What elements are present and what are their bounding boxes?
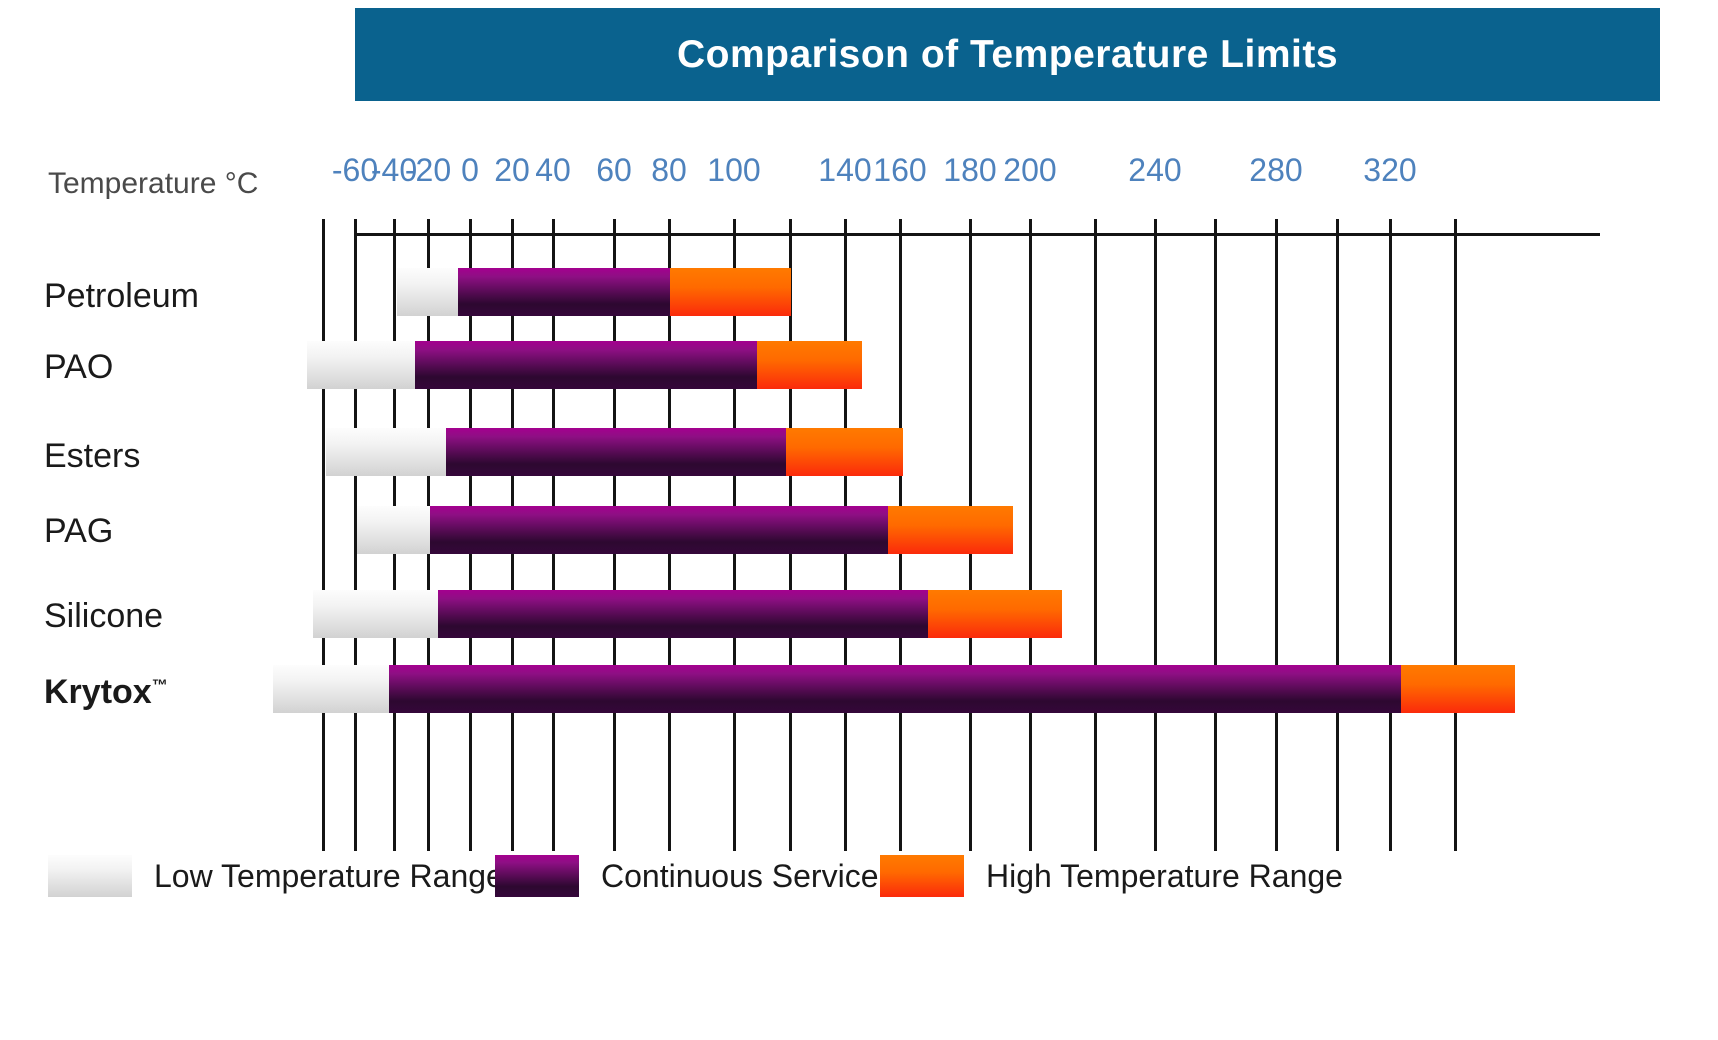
axis-tick-label: 160 xyxy=(873,152,926,189)
row-label-petroleum: Petroleum xyxy=(44,277,199,316)
grid-line xyxy=(1389,219,1392,851)
legend-item-low: Low Temperature Range xyxy=(48,855,504,897)
axis-tick-label: -60 xyxy=(332,152,378,189)
bar-segment-low xyxy=(313,590,438,638)
bar-segment-cont xyxy=(446,428,786,476)
bar-segment-cont xyxy=(458,268,670,316)
legend-item-continuous: Continuous Service xyxy=(495,855,878,897)
axis-tick-label: 80 xyxy=(651,152,687,189)
axis-tick-label: 60 xyxy=(596,152,632,189)
grid-line xyxy=(393,219,396,851)
grid-line xyxy=(668,219,671,851)
legend-swatch-high xyxy=(880,855,964,897)
grid-line xyxy=(1275,219,1278,851)
bar-segment-cont xyxy=(430,506,888,554)
axis-baseline xyxy=(355,233,1600,236)
grid-line xyxy=(969,219,972,851)
row-label-silicone: Silicone xyxy=(44,597,163,636)
bar-segment-low xyxy=(273,665,389,713)
axis-tick-label: 240 xyxy=(1128,152,1181,189)
row-label-pag: PAG xyxy=(44,512,113,551)
grid-line xyxy=(427,219,430,851)
axis-tick-label: -20 xyxy=(405,152,451,189)
row-label-esters: Esters xyxy=(44,437,140,476)
grid-line xyxy=(1029,219,1032,851)
grid-line xyxy=(469,219,472,851)
grid-line xyxy=(552,219,555,851)
grid-line xyxy=(733,219,736,851)
row-label-pao: PAO xyxy=(44,348,113,387)
grid-line xyxy=(1214,219,1217,851)
grid-line xyxy=(322,219,325,851)
axis-tick-label: 100 xyxy=(707,152,760,189)
grid-line xyxy=(789,219,792,851)
grid-line xyxy=(511,219,514,851)
bar-segment-high xyxy=(888,506,1013,554)
chart-legend: Low Temperature RangeContinuous ServiceH… xyxy=(48,855,1498,925)
row-label-krytox: Krytox™ xyxy=(44,673,168,712)
bar-segment-low xyxy=(326,428,446,476)
legend-label-high: High Temperature Range xyxy=(986,858,1343,895)
axis-tick-label: 40 xyxy=(535,152,571,189)
axis-tick-label: 180 xyxy=(943,152,996,189)
bar-segment-cont xyxy=(415,341,757,389)
axis-tick-label: -40 xyxy=(371,152,417,189)
axis-tick-label: 280 xyxy=(1249,152,1302,189)
bar-segment-high xyxy=(786,428,903,476)
legend-label-continuous: Continuous Service xyxy=(601,858,878,895)
bar-segment-high xyxy=(757,341,862,389)
legend-label-low: Low Temperature Range xyxy=(154,858,504,895)
title-banner: Comparison of Temperature Limits xyxy=(355,8,1660,101)
grid-line xyxy=(613,219,616,851)
legend-swatch-continuous xyxy=(495,855,579,897)
axis-tick-label: 320 xyxy=(1363,152,1416,189)
bar-segment-low xyxy=(307,341,415,389)
legend-swatch-low xyxy=(48,855,132,897)
axis-tick-label: 200 xyxy=(1003,152,1056,189)
axis-tick-label: 0 xyxy=(461,152,479,189)
grid-line xyxy=(1336,219,1339,851)
axis-tick-label: 20 xyxy=(494,152,530,189)
grid-line xyxy=(844,219,847,851)
grid-line xyxy=(899,219,902,851)
axis-caption-label: Temperature °C xyxy=(48,167,258,201)
grid-line xyxy=(1454,219,1457,851)
bar-segment-high xyxy=(928,590,1062,638)
page-title: Comparison of Temperature Limits xyxy=(677,33,1338,77)
bar-segment-cont xyxy=(438,590,928,638)
bar-segment-low xyxy=(357,506,430,554)
grid-line xyxy=(1094,219,1097,851)
axis-tick-label: 140 xyxy=(818,152,871,189)
bar-segment-high xyxy=(1401,665,1515,713)
grid-line xyxy=(354,219,357,851)
legend-item-high: High Temperature Range xyxy=(880,855,1343,897)
bar-segment-cont xyxy=(389,665,1401,713)
grid-line xyxy=(1154,219,1157,851)
bar-segment-high xyxy=(670,268,791,316)
bar-segment-low xyxy=(397,268,458,316)
